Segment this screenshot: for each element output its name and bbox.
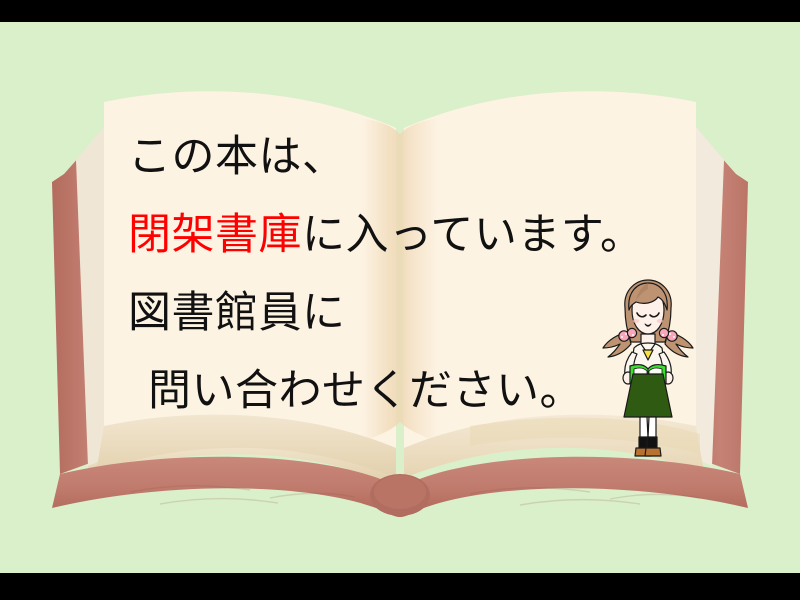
message-line-1-text: この本は、 [128, 132, 346, 182]
blush-right [657, 319, 663, 323]
book-spine-bump-highlight [374, 475, 426, 509]
message-line-1: この本は、 [128, 118, 688, 196]
girl-reading-book-illustration [592, 274, 704, 462]
message-line-3-text: 図書館員に [128, 288, 346, 338]
message-line-2: 閉架書庫に入っています。 [128, 196, 688, 274]
leg-right [648, 417, 656, 438]
sock-right [647, 437, 657, 449]
message-line-2-rest: に入っています。 [302, 210, 644, 260]
skirt [624, 374, 672, 417]
leg-left [640, 417, 648, 438]
message-line-2-highlight: 閉架書庫 [128, 210, 302, 260]
message-line-4-text: 問い合わせください。 [148, 366, 583, 416]
blush-left [633, 319, 639, 323]
letterbox-bottom [0, 573, 800, 600]
letterbox-top [0, 0, 800, 22]
shoe-right [645, 448, 661, 456]
slide-canvas: この本は、 閉架書庫に入っています。 図書館員に 問い合わせください。 [0, 0, 800, 600]
